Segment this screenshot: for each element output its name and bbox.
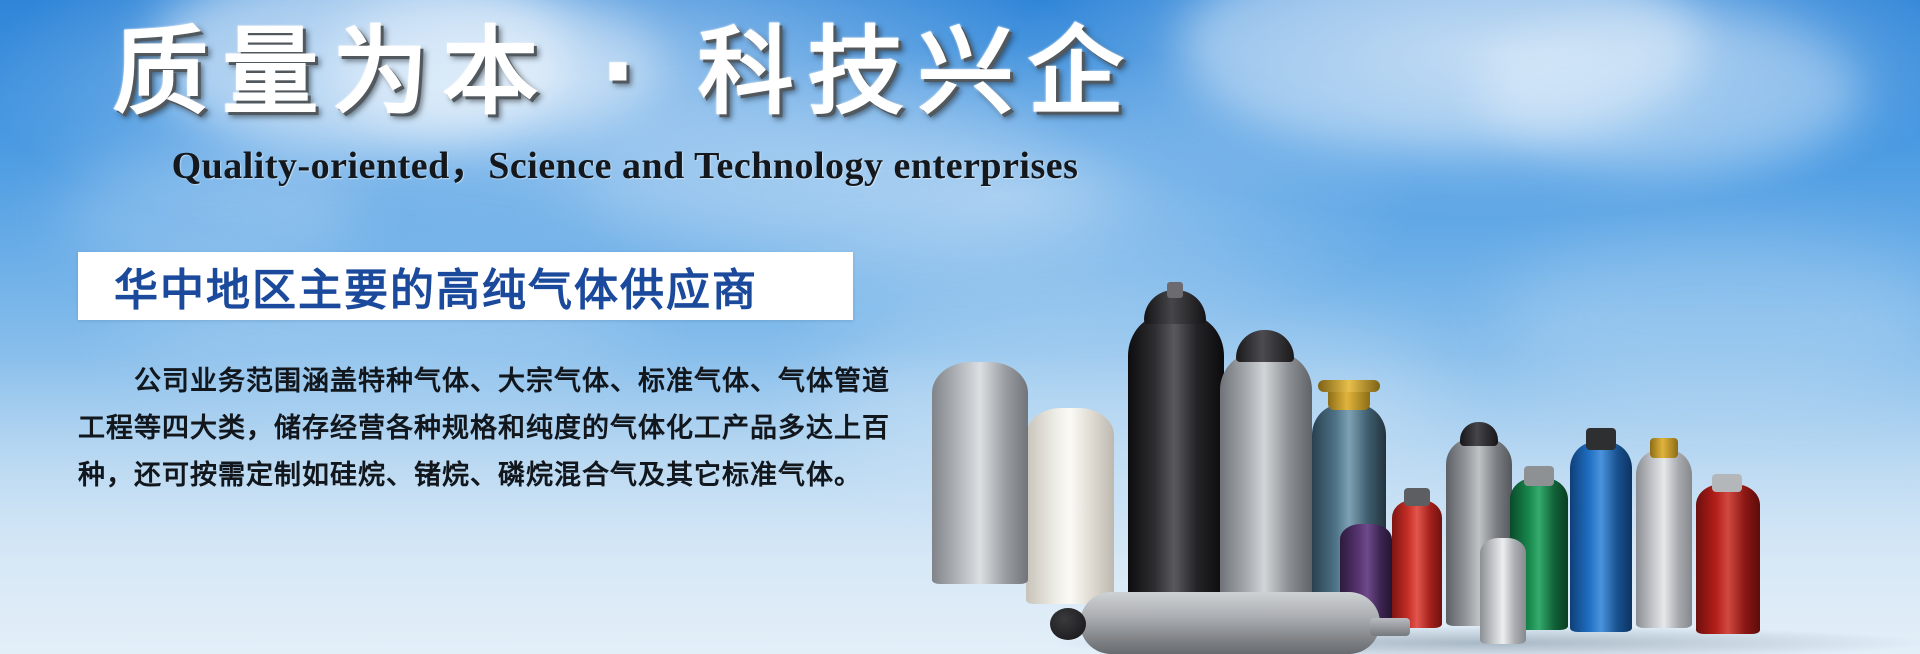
blue-small-cylinder	[1570, 442, 1632, 632]
slogan-text: 华中地区主要的高纯气体供应商	[114, 254, 758, 318]
gas-cylinder-group	[1040, 234, 1920, 654]
cloud-puff	[1180, 0, 1700, 150]
dark-grey-cylinder-cap	[1460, 422, 1498, 446]
paragraph-line: 种，还可按需定制如硅烷、锗烷、磷烷混合气及其它标准气体。	[78, 452, 868, 499]
brass-handwheel-icon	[1318, 380, 1380, 392]
promo-banner: 质量为本 · 科技兴企 Quality-oriented，Science and…	[0, 0, 1920, 654]
blue-cylinder-cap	[1586, 428, 1616, 450]
light-grey-cylinder	[932, 362, 1028, 584]
small-aluminium-bottle	[1480, 538, 1526, 644]
black-cylinder-valve	[1167, 282, 1183, 298]
cloud-puff	[1480, 10, 1860, 170]
paragraph-line: 公司业务范围涵盖特种气体、大宗气体、标准气体、气体管道	[78, 358, 868, 405]
black-tall-cylinder	[1128, 314, 1224, 614]
dark-red-cylinder	[1696, 484, 1760, 634]
horizontal-grey-tank	[1080, 592, 1380, 654]
banner-subheadline: Quality-oriented，Science and Technology …	[0, 134, 1250, 189]
green-cylinder-cap	[1524, 466, 1554, 486]
horizontal-tank-neck	[1370, 618, 1410, 636]
aluminium-brass-valve	[1650, 438, 1678, 458]
white-cylinder	[1026, 408, 1114, 604]
grey-cylinder-cap	[1236, 330, 1294, 362]
aluminium-cylinder	[1636, 450, 1692, 628]
banner-paragraph: 公司业务范围涵盖特种气体、大宗气体、标准气体、气体管道 工程等四大类，储存经营各…	[78, 358, 868, 499]
grey-tall-cylinder	[1220, 352, 1312, 624]
red-cylinder-cap	[1404, 488, 1430, 506]
horizontal-tank-end-cap	[1050, 608, 1086, 640]
red-small-cylinder	[1392, 500, 1442, 628]
banner-headline: 质量为本 · 科技兴企	[0, 22, 1250, 123]
slogan-box: 华中地区主要的高纯气体供应商	[78, 252, 853, 320]
paragraph-line: 工程等四大类，储存经营各种规格和纯度的气体化工产品多达上百	[78, 405, 868, 452]
dark-red-cylinder-cap	[1712, 474, 1742, 492]
